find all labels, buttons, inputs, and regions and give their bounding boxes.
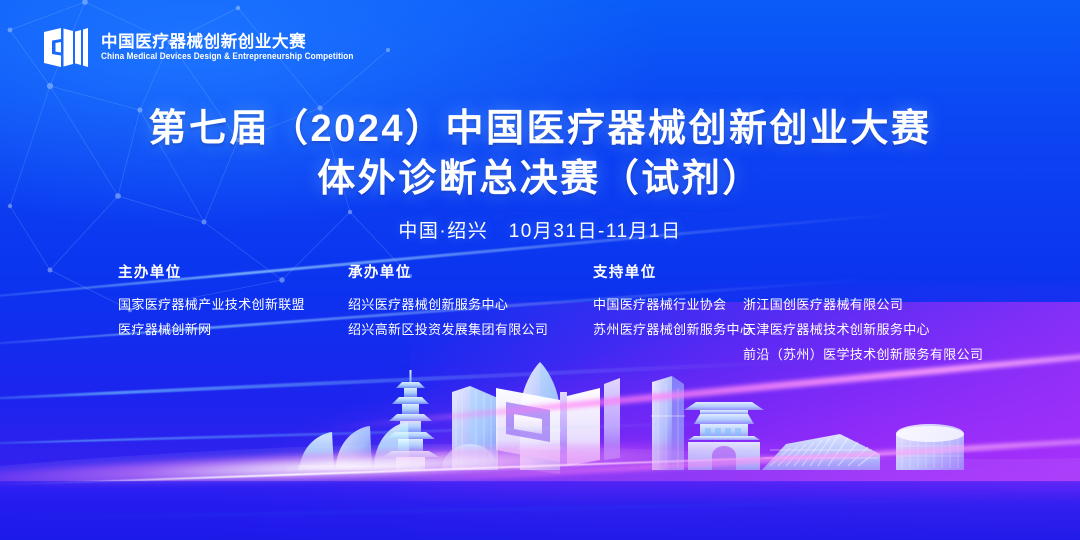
title-block: 第七届（2024）中国医疗器械创新创业大赛 体外诊断总决赛（试剂） 中国·绍兴 … bbox=[0, 104, 1080, 243]
organizer-item: 国家医疗器械产业技术创新联盟 bbox=[118, 292, 348, 317]
event-poster: 中国医疗器械创新创业大赛 China Medical Devices Desig… bbox=[0, 0, 1080, 540]
brand-logo: 中国医疗器械创新创业大赛 China Medical Devices Desig… bbox=[42, 24, 353, 71]
open-book-door-logo-icon bbox=[42, 24, 90, 71]
organizer-column-coorganizer: 承办单位 绍兴医疗器械创新服务中心 绍兴高新区投资发展集团有限公司 bbox=[348, 266, 593, 342]
brand-name-en: China Medical Devices Design & Entrepren… bbox=[101, 52, 353, 61]
organizer-column-supporter: 支持单位 中国医疗器械行业协会 苏州医疗器械创新服务中心 bbox=[593, 266, 743, 342]
organizer-heading: 主办单位 bbox=[118, 266, 348, 281]
foreground-shadow-band bbox=[0, 481, 1080, 540]
brand-name-cn: 中国医疗器械创新创业大赛 bbox=[101, 34, 353, 51]
organizer-item: 浙江国创医疗器械有限公司 bbox=[743, 292, 993, 317]
organizer-heading: 支持单位 bbox=[593, 266, 743, 281]
organizer-item: 前沿（苏州）医学技术创新服务有限公司 bbox=[743, 342, 993, 367]
organizer-column-host: 主办单位 国家医疗器械产业技术创新联盟 医疗器械创新网 bbox=[118, 266, 348, 342]
title-line-1: 第七届（2024）中国医疗器械创新创业大赛 bbox=[0, 104, 1080, 154]
organizer-item: 苏州医疗器械创新服务中心 bbox=[593, 317, 743, 342]
organizer-heading: 承办单位 bbox=[348, 266, 593, 281]
location-date: 中国·绍兴 10月31日-11月1日 bbox=[0, 216, 1080, 243]
organizer-item: 绍兴医疗器械创新服务中心 bbox=[348, 292, 593, 317]
organizer-item: 中国医疗器械行业协会 bbox=[593, 292, 743, 317]
organizer-item: 医疗器械创新网 bbox=[118, 317, 348, 342]
organizer-item: 绍兴高新区投资发展集团有限公司 bbox=[348, 317, 593, 342]
organizer-column-supporter-extra: 支持单位续 浙江国创医疗器械有限公司 天津医疗器械技术创新服务中心 前沿（苏州）… bbox=[743, 266, 993, 367]
organizers-block: 主办单位 国家医疗器械产业技术创新联盟 医疗器械创新网 承办单位 绍兴医疗器械创… bbox=[118, 266, 993, 367]
title-line-2: 体外诊断总决赛（试剂） bbox=[0, 154, 1080, 204]
organizer-item: 天津医疗器械技术创新服务中心 bbox=[743, 317, 993, 342]
